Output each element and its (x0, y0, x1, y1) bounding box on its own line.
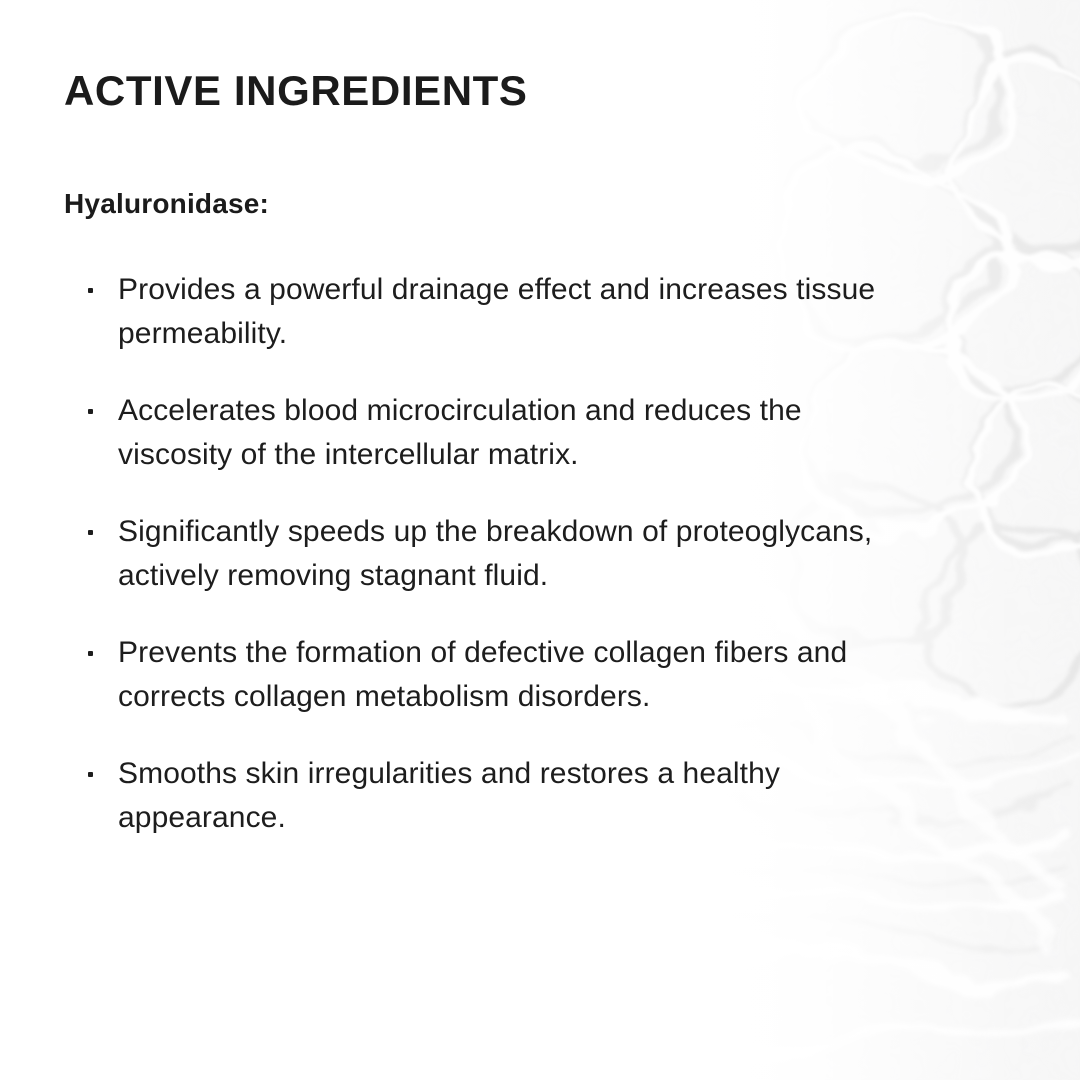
list-item: Provides a powerful drainage effect and … (82, 268, 894, 356)
list-item-text: Significantly speeds up the breakdown of… (118, 510, 894, 598)
list-item-text: Provides a powerful drainage effect and … (118, 268, 894, 356)
ingredient-benefit-list: Provides a powerful drainage effect and … (82, 268, 894, 840)
list-item-text: Smooths skin irregularities and restores… (118, 752, 894, 840)
page-title: ACTIVE INGREDIENTS (64, 66, 528, 116)
list-item-text: Prevents the formation of defective coll… (118, 631, 894, 719)
bullet-dot-icon (88, 772, 93, 777)
list-item-text: Accelerates blood microcirculation and r… (118, 389, 894, 477)
bullet-dot-icon (88, 409, 93, 414)
slide-canvas: ACTIVE INGREDIENTS Hyaluronidase: Provid… (0, 0, 1080, 1080)
bullet-dot-icon (88, 651, 93, 656)
list-item: Significantly speeds up the breakdown of… (82, 510, 894, 598)
bullet-dot-icon (88, 288, 93, 293)
list-item: Accelerates blood microcirculation and r… (82, 389, 894, 477)
list-item: Smooths skin irregularities and restores… (82, 752, 894, 840)
bullet-dot-icon (88, 530, 93, 535)
section-heading-hyaluronidase: Hyaluronidase: (64, 186, 269, 222)
list-item: Prevents the formation of defective coll… (82, 631, 894, 719)
